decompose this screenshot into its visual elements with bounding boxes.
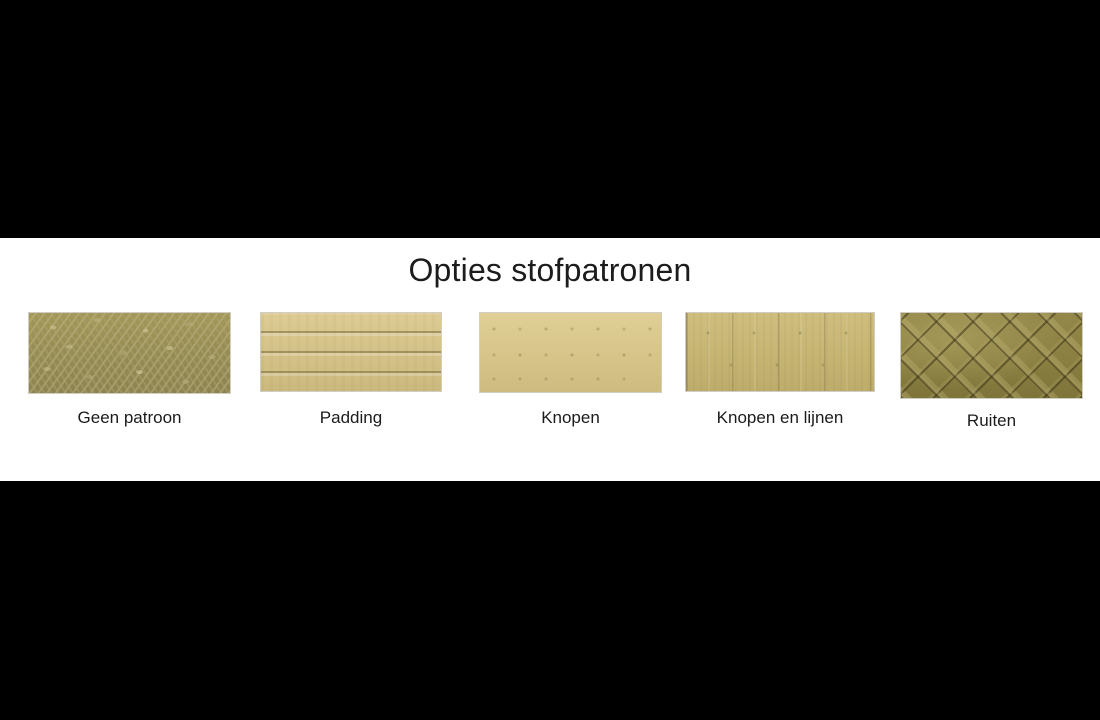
swatch-preview-ruiten[interactable] (901, 313, 1082, 398)
swatch-option-knopen[interactable]: Knopen (480, 313, 661, 392)
screen: Opties stofpatronen Geen patroon Padding… (0, 0, 1100, 720)
swatch-preview-geen-patroon[interactable] (29, 313, 230, 393)
swatch-option-ruiten[interactable]: Ruiten (901, 313, 1082, 398)
page-title: Opties stofpatronen (0, 252, 1100, 289)
swatch-label-knopen-en-lijnen: Knopen en lijnen (717, 408, 844, 428)
swatch-option-padding[interactable]: Padding (261, 313, 441, 391)
swatch-label-knopen: Knopen (541, 408, 600, 428)
swatch-label-ruiten: Ruiten (967, 411, 1016, 431)
swatch-option-knopen-en-lijnen[interactable]: Knopen en lijnen (686, 313, 874, 391)
swatch-preview-padding[interactable] (261, 313, 441, 391)
swatch-row: Geen patroon Padding Knopen Knopen en li… (0, 313, 1100, 433)
fabric-pattern-panel: Opties stofpatronen Geen patroon Padding… (0, 238, 1100, 481)
swatch-preview-knopen[interactable] (480, 313, 661, 392)
swatch-label-geen-patroon: Geen patroon (78, 408, 182, 428)
swatch-label-padding: Padding (320, 408, 382, 428)
swatch-preview-knopen-en-lijnen[interactable] (686, 313, 874, 391)
swatch-option-geen-patroon[interactable]: Geen patroon (29, 313, 230, 393)
